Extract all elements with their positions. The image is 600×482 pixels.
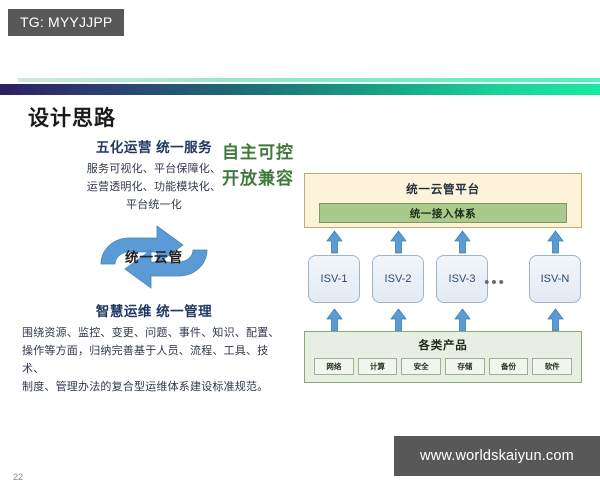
isv-node[interactable]: ISV-1 bbox=[308, 255, 360, 303]
bottom-description-line: 围绕资源、监控、变更、问题、事件、知识、配置、 bbox=[22, 325, 286, 343]
platform-title: 统一云管平台 bbox=[305, 181, 581, 197]
product-chip[interactable]: 备份 bbox=[489, 358, 529, 375]
slogan-block: 自主可控 开放兼容 bbox=[222, 140, 294, 191]
platform-box: 统一云管平台 统一接入体系 bbox=[304, 173, 582, 228]
slide-canvas: 设计思路 五化运营 统一服务 服务可视化、平台保障化、 运营透明化、功能模块化、… bbox=[0, 78, 600, 418]
up-arrow-icon bbox=[454, 308, 471, 332]
bottom-description-line: 操作等方面，归纳完善基于人员、流程、工具、技术、 bbox=[22, 343, 286, 379]
top-description-line: 平台统一化 bbox=[8, 197, 300, 215]
footer-url: www.worldskaiyun.com bbox=[394, 436, 600, 476]
product-chip[interactable]: 计算 bbox=[358, 358, 398, 375]
slogan-line: 自主可控 bbox=[222, 140, 294, 166]
isv-ellipsis: ••• bbox=[480, 275, 510, 290]
products-box: 各类产品 网络 计算 安全 存储 备份 软件 bbox=[304, 331, 582, 383]
page-number: 22 bbox=[13, 472, 23, 482]
architecture-diagram: 统一云管平台 统一接入体系 ISV-1 ISV-2 ISV-3 ••• ISV-… bbox=[300, 173, 590, 403]
access-system-box: 统一接入体系 bbox=[319, 203, 567, 223]
product-chip[interactable]: 网络 bbox=[314, 358, 354, 375]
up-arrow-icon bbox=[454, 230, 471, 254]
product-chip[interactable]: 软件 bbox=[532, 358, 572, 375]
isv-node[interactable]: ISV-2 bbox=[372, 255, 424, 303]
products-title: 各类产品 bbox=[305, 337, 581, 353]
bottom-description-line: 制度、管理办法的复合型运维体系建设标准规范。 bbox=[22, 379, 286, 397]
gradient-header-bar bbox=[0, 84, 600, 95]
page-title: 设计思路 bbox=[28, 102, 116, 132]
products-list: 网络 计算 安全 存储 备份 软件 bbox=[312, 358, 574, 375]
bottom-description: 围绕资源、监控、变更、问题、事件、知识、配置、 操作等方面，归纳完善基于人员、流… bbox=[8, 325, 300, 396]
isv-node-row: ISV-1 ISV-2 ISV-3 ••• ISV-N bbox=[304, 255, 582, 305]
tg-badge: TG: MYYJJPP bbox=[8, 9, 124, 36]
arrow-row-upper bbox=[304, 230, 582, 254]
isv-node[interactable]: ISV-N bbox=[529, 255, 581, 303]
arrow-row-lower bbox=[304, 308, 582, 332]
up-arrow-icon bbox=[326, 308, 343, 332]
up-arrow-icon bbox=[390, 230, 407, 254]
product-chip[interactable]: 存储 bbox=[445, 358, 485, 375]
up-arrow-icon bbox=[547, 230, 564, 254]
up-arrow-icon bbox=[390, 308, 407, 332]
slogan-line: 开放兼容 bbox=[222, 166, 294, 192]
up-arrow-icon bbox=[326, 230, 343, 254]
gradient-accent-line bbox=[18, 78, 600, 82]
cycle-center-label: 统一云管 bbox=[8, 246, 300, 266]
up-arrow-icon bbox=[547, 308, 564, 332]
bottom-heading: 智慧运维 统一管理 bbox=[8, 300, 300, 320]
cycle-diagram: 统一云管 bbox=[8, 218, 300, 296]
product-chip[interactable]: 安全 bbox=[401, 358, 441, 375]
